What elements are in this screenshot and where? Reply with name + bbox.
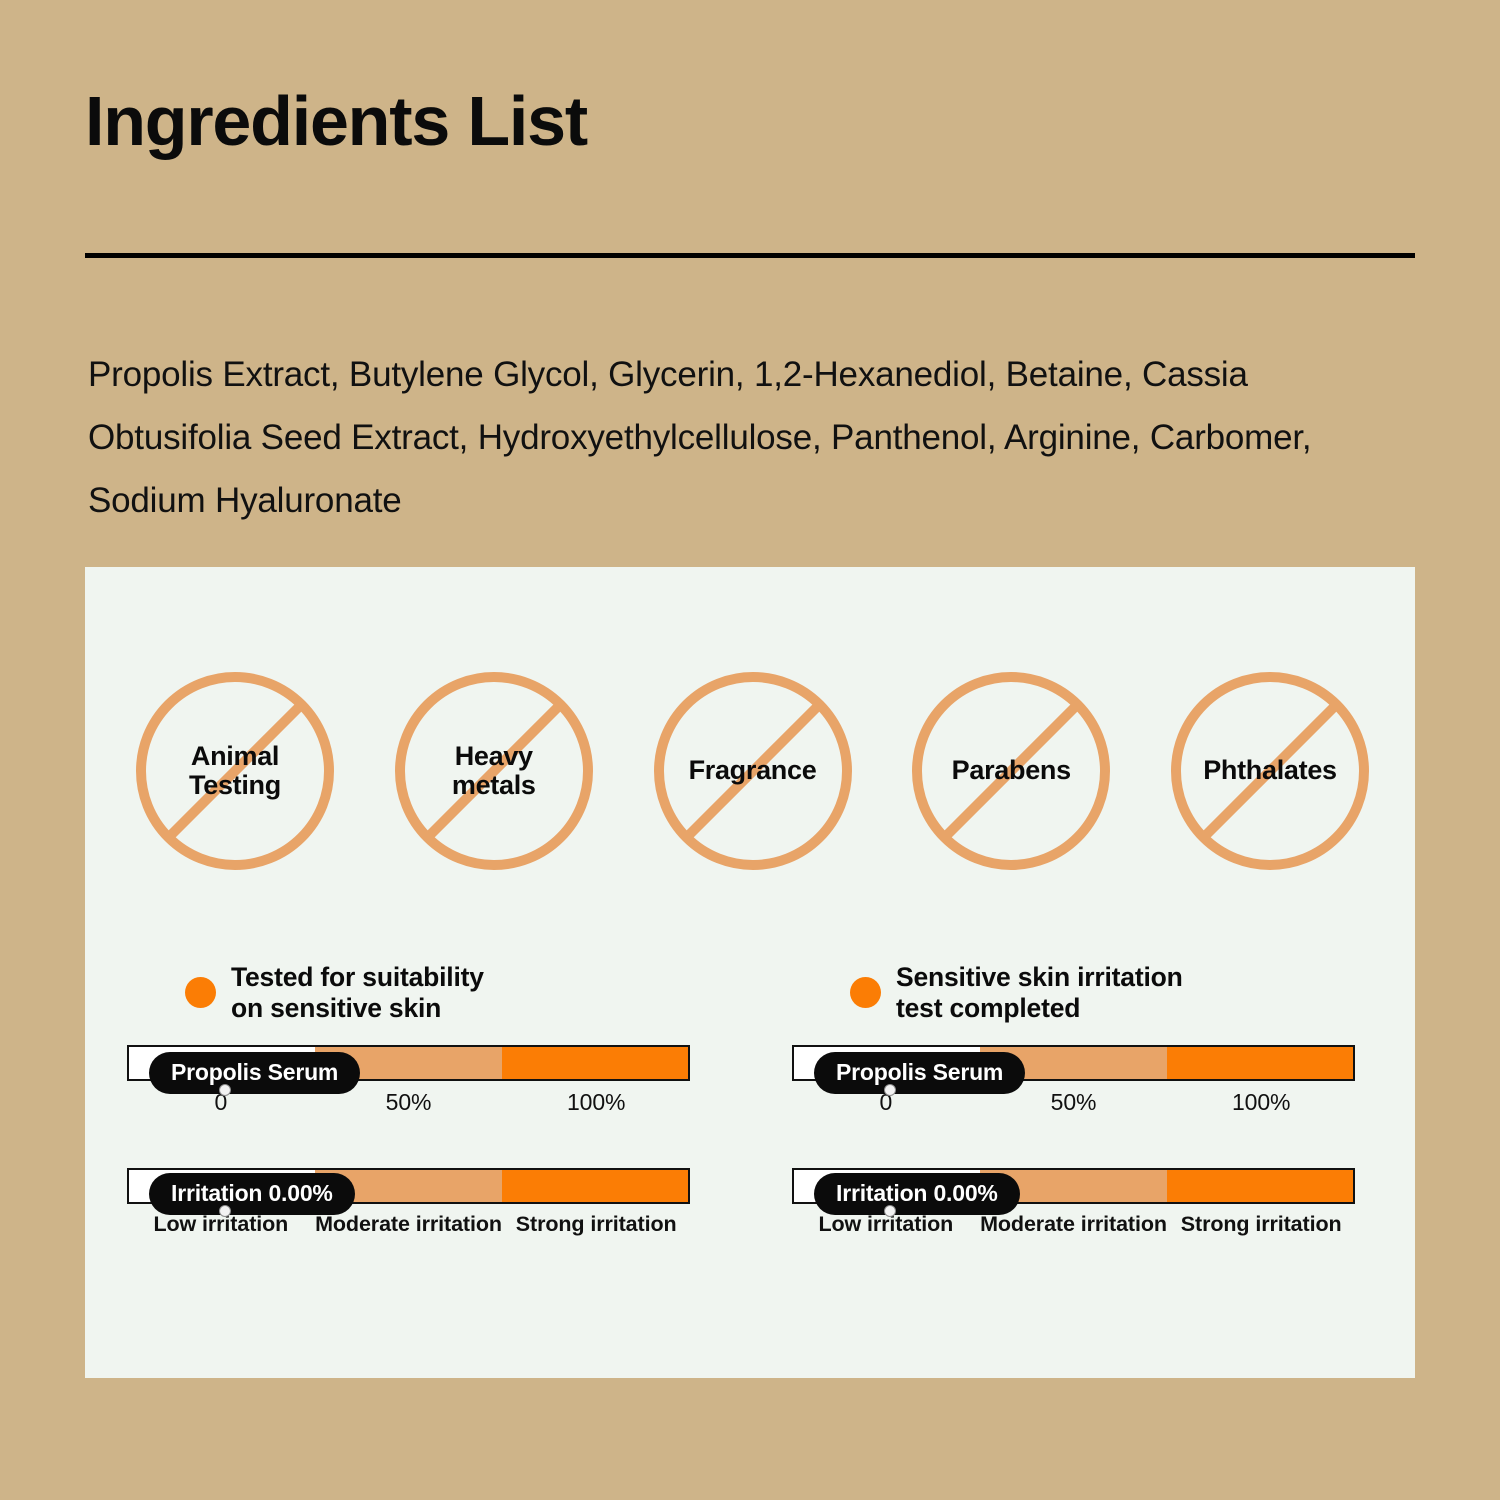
- free-from-badge-parabens: Parabens: [911, 671, 1111, 871]
- gauge-tick-labels: Low irritation Moderate irritation Stron…: [127, 1212, 690, 1237]
- gauge-tick: Moderate irritation: [980, 1212, 1168, 1237]
- free-from-badge-label: Parabens: [911, 756, 1111, 785]
- gauge-tick: Strong irritation: [1167, 1212, 1355, 1237]
- gauge-segment-strong: [502, 1047, 688, 1079]
- gauge-tick-labels: Low irritation Moderate irritation Stron…: [792, 1212, 1355, 1237]
- gauge-tick: Low irritation: [127, 1212, 315, 1237]
- gauge-tick: Low irritation: [792, 1212, 980, 1237]
- free-from-badge-fragrance: Fragrance: [653, 671, 853, 871]
- free-from-badge-label: Phthalates: [1170, 756, 1370, 785]
- panel-legend-label: Sensitive skin irritation test completed: [896, 962, 1183, 1023]
- ingredients-paragraph: Propolis Extract, Butylene Glycol, Glyce…: [88, 343, 1378, 532]
- title-divider: [85, 253, 1415, 258]
- gauge-tick: Strong irritation: [502, 1212, 690, 1237]
- panel-irritation-test: Sensitive skin irritation test completed…: [750, 962, 1415, 1237]
- legend-dot-icon: [185, 977, 216, 1008]
- free-from-badge-phthalates: Phthalates: [1170, 671, 1370, 871]
- free-from-badge-animal-testing: Animal Testing: [135, 671, 335, 871]
- free-from-badge-row: Animal Testing Heavy metals Fragrance: [135, 671, 1370, 871]
- gauge-tick: Moderate irritation: [315, 1212, 503, 1237]
- panel-legend: Sensitive skin irritation test completed: [850, 962, 1415, 1023]
- product-claims-card: Animal Testing Heavy metals Fragrance: [85, 567, 1415, 1378]
- panel-legend-label: Tested for suitability on sensitive skin: [231, 962, 484, 1023]
- free-from-badge-label: Animal Testing: [135, 742, 335, 800]
- gauge-segment-strong: [502, 1170, 688, 1202]
- legend-dot-icon: [850, 977, 881, 1008]
- gauge-propolis-serum[interactable]: Propolis Serum 0 50% 100%: [792, 1045, 1355, 1116]
- gauge-pill-label: Propolis Serum: [149, 1052, 360, 1094]
- gauge-tick: 100%: [1167, 1089, 1355, 1116]
- gauge-pill-label: Propolis Serum: [814, 1052, 1025, 1094]
- gauge-tick: 100%: [502, 1089, 690, 1116]
- ingredients-page: Ingredients List Propolis Extract, Butyl…: [0, 0, 1500, 1500]
- free-from-badge-label: Heavy metals: [394, 742, 594, 800]
- gauge-irritation[interactable]: Irritation 0.00% Low irritation Moderate…: [792, 1168, 1355, 1237]
- gauge-pill-label: Irritation 0.00%: [149, 1173, 355, 1215]
- gauge-pill-label: Irritation 0.00%: [814, 1173, 1020, 1215]
- gauge-segment-strong: [1167, 1170, 1353, 1202]
- gauge-segment-strong: [1167, 1047, 1353, 1079]
- panel-legend: Tested for suitability on sensitive skin: [185, 962, 750, 1023]
- panel-sensitive-skin-suitability: Tested for suitability on sensitive skin…: [85, 962, 750, 1237]
- gauge-propolis-serum[interactable]: Propolis Serum 0 50% 100%: [127, 1045, 690, 1116]
- free-from-badge-label: Fragrance: [653, 756, 853, 785]
- page-title: Ingredients List: [85, 86, 587, 156]
- gauge-irritation[interactable]: Irritation 0.00% Low irritation Moderate…: [127, 1168, 690, 1237]
- free-from-badge-heavy-metals: Heavy metals: [394, 671, 594, 871]
- test-results-panels: Tested for suitability on sensitive skin…: [85, 962, 1415, 1237]
